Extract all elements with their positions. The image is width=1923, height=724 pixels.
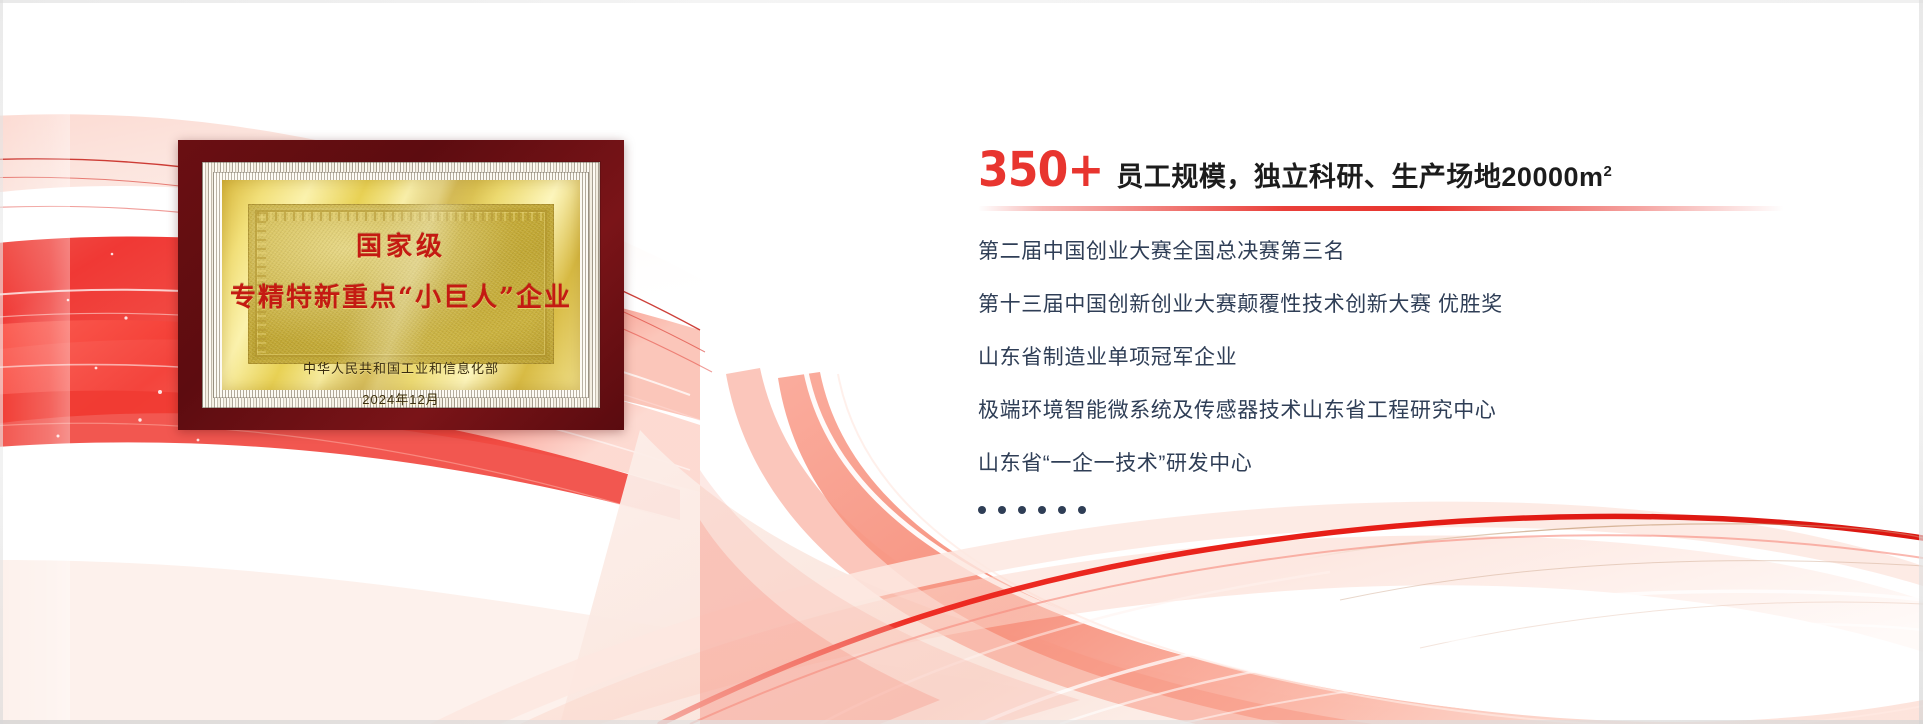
dot [1058,506,1066,514]
plaque-date: 2024年12月 [362,389,439,408]
headline: 350+ 员工规模，独立科研、生产场地20000m2 [978,146,1858,194]
plaque-text-block: 国家级 专精特新重点“小巨人”企业 中华人民共和国工业和信息化部 2024年12… [222,180,580,390]
dot [998,506,1006,514]
banner-stage: 国家级 专精特新重点“小巨人”企业 中华人民共和国工业和信息化部 2024年12… [0,0,1923,724]
plaque-title-line2: 专精特新重点“小巨人”企业 [230,283,572,314]
plaque-outer-frame: 国家级 专精特新重点“小巨人”企业 中华人民共和国工业和信息化部 2024年12… [178,140,624,430]
page-edge-top [0,0,1923,3]
list-item: 极端环境智能微系统及传感器技术山东省工程研究中心 [978,400,1858,421]
list-item: 第十三届中国创新创业大赛颠覆性技术创新大赛 优胜奖 [978,294,1858,315]
list-item: 山东省制造业单项冠军企业 [978,347,1858,368]
content-column: 350+ 员工规模，独立科研、生产场地20000m2 第二届中国创业大赛全国总决… [978,146,1858,514]
page-edge-left [0,0,3,724]
plaque-title-line1: 国家级 [356,232,446,263]
award-plaque: 国家级 专精特新重点“小巨人”企业 中华人民共和国工业和信息化部 2024年12… [178,140,624,430]
plaque-ornate-band: 国家级 专精特新重点“小巨人”企业 中华人民共和国工业和信息化部 2024年12… [202,162,600,408]
headline-underline [978,206,1784,211]
ellipsis-dots [978,506,1858,514]
dot [1038,506,1046,514]
plaque-gold-bevel: 国家级 专精特新重点“小巨人”企业 中华人民共和国工业和信息化部 2024年12… [222,180,580,390]
plaque-reflection [178,432,624,582]
page-edge-right [1919,0,1923,724]
list-item: 山东省“一企一技术”研发中心 [978,453,1858,474]
headline-text-main: 员工规模，独立科研、生产场地20000m [1116,162,1603,192]
dot [1078,506,1086,514]
list-item: 第二届中国创业大赛全国总决赛第三名 [978,241,1858,262]
headline-superscript: 2 [1604,163,1613,180]
dot [1018,506,1026,514]
dot [978,506,986,514]
page-edge-bottom [0,720,1923,724]
plaque-issuer: 中华人民共和国工业和信息化部 [303,358,499,377]
honor-list: 第二届中国创业大赛全国总决赛第三名 第十三届中国创新创业大赛颠覆性技术创新大赛 … [978,241,1858,474]
plaque-ornate-band-inner: 国家级 专精特新重点“小巨人”企业 中华人民共和国工业和信息化部 2024年12… [213,172,589,398]
headline-number: 350+ [978,146,1104,194]
headline-text: 员工规模，独立科研、生产场地20000m2 [1116,164,1612,191]
